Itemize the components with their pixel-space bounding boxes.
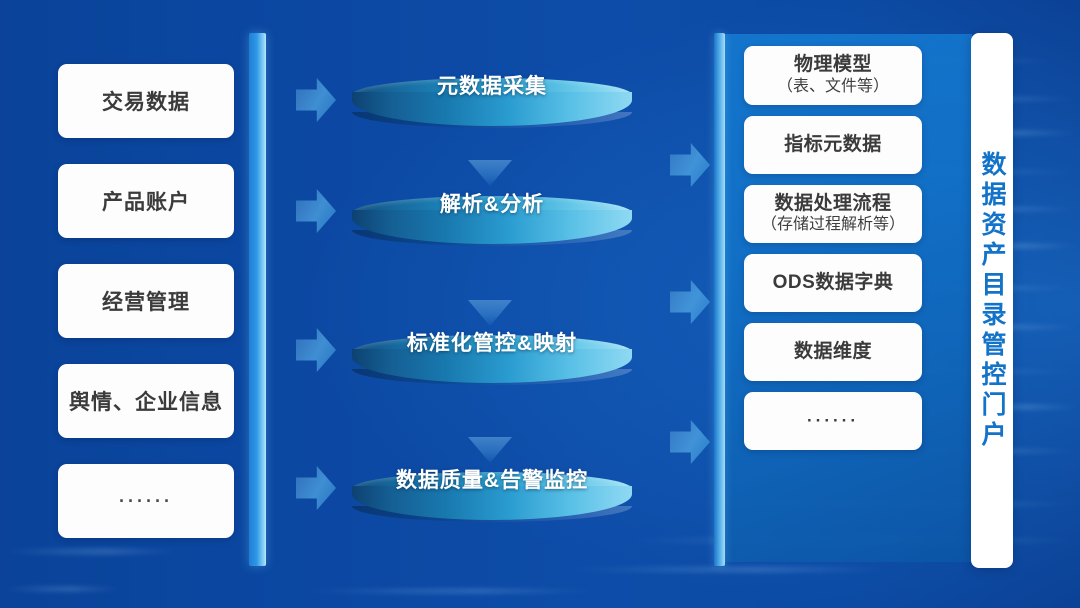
flow-arrow-output-1 [670,143,710,187]
portal-label: 数据资产目录管控门户 [974,151,1010,451]
output-card-title: 数据维度 [794,340,872,364]
process-stage-label: 解析&分析 [352,188,632,218]
output-card-subtitle: （表、文件等） [777,77,889,98]
diagram-canvas: 交易数据 产品账户 经营管理 舆情、企业信息 ······ 元数据采集 解析&分… [0,0,1080,608]
process-stage-standardization-mapping[interactable]: 标准化管控&映射 [352,335,632,397]
flow-arrow-down-3 [468,437,512,463]
process-stage-parse-analyze[interactable]: 解析&分析 [352,196,632,258]
output-card-data-process-flow[interactable]: 数据处理流程 （存储过程解析等） [744,185,922,244]
flow-arrow-right-4 [296,466,336,510]
output-card-title: ······ [807,410,859,431]
output-asset-column: 物理模型 （表、文件等） 指标元数据 数据处理流程 （存储过程解析等） ODS数… [744,46,922,461]
flow-arrow-down-1 [468,160,512,186]
output-card-title: 物理模型 [794,53,872,77]
process-stage-metadata-collection[interactable]: 元数据采集 [352,78,632,140]
process-stage-quality-alert-monitoring[interactable]: 数据质量&告警监控 [352,472,632,534]
process-stage-label: 标准化管控&映射 [352,327,632,357]
flow-arrow-right-3 [296,328,336,372]
source-card-more[interactable]: ······ [58,464,234,538]
source-data-column: 交易数据 产品账户 经营管理 舆情、企业信息 ······ [58,64,234,564]
output-card-title: 数据处理流程 [774,192,891,216]
source-card-label: 交易数据 [102,86,190,116]
source-card-label: 舆情、企业信息 [69,386,223,416]
output-card-physical-model[interactable]: 物理模型 （表、文件等） [744,46,922,105]
output-card-more[interactable]: ······ [744,392,922,450]
output-card-subtitle: （存储过程解析等） [761,215,905,236]
output-card-ods-dictionary[interactable]: ODS数据字典 [744,254,922,312]
flow-arrow-output-2 [670,280,710,324]
process-stage-label: 数据质量&告警监控 [352,464,632,494]
source-card-label: ······ [119,491,173,512]
output-card-data-dimension[interactable]: 数据维度 [744,323,922,381]
source-card-operations[interactable]: 经营管理 [58,264,234,338]
source-card-public-opinion[interactable]: 舆情、企业信息 [58,364,234,438]
left-divider-rail [249,33,266,566]
process-stage-label: 元数据采集 [352,70,632,100]
portal-vertical-bar[interactable]: 数据资产目录管控门户 [971,33,1013,568]
source-card-transaction[interactable]: 交易数据 [58,64,234,138]
source-card-label: 经营管理 [102,286,190,316]
right-divider-rail [714,33,725,566]
flow-arrow-output-3 [670,420,710,464]
flow-arrow-down-2 [468,300,512,326]
output-card-indicator-metadata[interactable]: 指标元数据 [744,116,922,174]
flow-arrow-right-2 [296,189,336,233]
output-card-title: 指标元数据 [784,133,882,157]
source-card-label: 产品账户 [102,186,190,216]
flow-arrow-right-1 [296,78,336,122]
source-card-product-account[interactable]: 产品账户 [58,164,234,238]
output-card-title: ODS数据字典 [773,271,894,295]
